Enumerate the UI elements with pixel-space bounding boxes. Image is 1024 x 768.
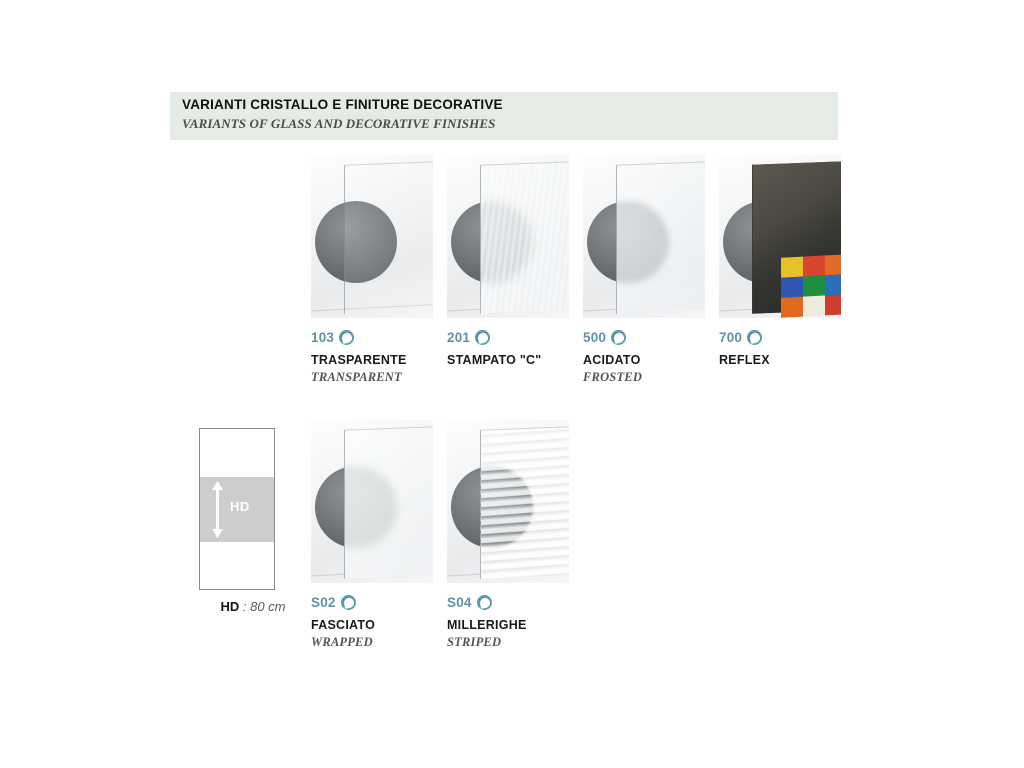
- hd-band-label: HD: [230, 499, 250, 514]
- color-swatch: [803, 295, 825, 316]
- sample-caption: 500 ACIDATO FROSTED: [583, 329, 705, 385]
- sample-card-500[interactable]: 500 ACIDATO FROSTED: [583, 155, 705, 385]
- sample-code: 201: [447, 330, 470, 345]
- sample-code: S02: [311, 595, 336, 610]
- hd-dimension-diagram: HD: [199, 428, 275, 590]
- sample-card-700[interactable]: 700 REFLEX: [719, 155, 841, 370]
- sample-card-S04[interactable]: S04 MILLERIGHE STRIPED: [447, 420, 569, 650]
- sample-photo-acidato: [583, 155, 705, 318]
- water-drop-icon: [475, 330, 490, 345]
- sample-code-row: S02: [311, 594, 433, 611]
- sample-name-en: TRANSPARENT: [311, 370, 433, 385]
- sample-code: S04: [447, 595, 472, 610]
- sample-name-it: STAMPATO "C": [447, 353, 569, 367]
- water-drop-icon: [477, 595, 492, 610]
- glass-pane-millerighe: [480, 426, 569, 579]
- sample-code-row: 201: [447, 329, 569, 346]
- sample-card-201[interactable]: 201 STAMPATO "C": [447, 155, 569, 370]
- sample-card-S02[interactable]: S02 FASCIATO WRAPPED: [311, 420, 433, 650]
- sample-code-row: S04: [447, 594, 569, 611]
- sample-name-en: FROSTED: [583, 370, 705, 385]
- color-swatch: [803, 275, 825, 296]
- sample-name-it: ACIDATO: [583, 353, 705, 367]
- water-drop-icon: [747, 330, 762, 345]
- sample-photo-stampato-c: [447, 155, 569, 318]
- sample-caption: S04 MILLERIGHE STRIPED: [447, 594, 569, 650]
- sample-code: 500: [583, 330, 606, 345]
- sample-code-row: 500: [583, 329, 705, 346]
- water-drop-icon: [611, 330, 626, 345]
- sample-name-it: FASCIATO: [311, 618, 433, 632]
- glass-pane-transparent: [344, 161, 433, 314]
- hd-caption-separator: :: [239, 599, 250, 614]
- color-swatch: [781, 277, 803, 298]
- color-checker-grid: [781, 254, 841, 317]
- sample-photo-trasparente: [311, 155, 433, 318]
- hd-caption: HD : 80 cm: [193, 599, 313, 614]
- sample-name-it: REFLEX: [719, 353, 841, 367]
- color-swatch: [803, 255, 825, 276]
- color-swatch: [825, 254, 841, 275]
- sample-card-103[interactable]: 103 TRASPARENTE TRANSPARENT: [311, 155, 433, 385]
- color-swatch: [825, 294, 841, 315]
- sample-caption: S02 FASCIATO WRAPPED: [311, 594, 433, 650]
- hd-double-arrow-icon: [211, 481, 224, 538]
- glass-pane-fasciato: [344, 426, 433, 579]
- sample-name-it: TRASPARENTE: [311, 353, 433, 367]
- glass-pane-stampato: [480, 161, 569, 314]
- water-drop-icon: [341, 595, 356, 610]
- sample-photo-millerighe: [447, 420, 569, 583]
- sample-caption: 700 REFLEX: [719, 329, 841, 367]
- sample-name-en: WRAPPED: [311, 635, 433, 650]
- color-swatch: [825, 274, 841, 295]
- sample-caption: 103 TRASPARENTE TRANSPARENT: [311, 329, 433, 385]
- page-title: VARIANTI CRISTALLO E FINITURE DECORATIVE: [182, 97, 503, 112]
- page-subtitle: VARIANTS OF GLASS AND DECORATIVE FINISHE…: [182, 116, 495, 132]
- sample-name-en: STRIPED: [447, 635, 569, 650]
- hd-caption-key: HD: [220, 599, 239, 614]
- color-swatch: [781, 257, 803, 278]
- hd-caption-value: 80 cm: [250, 599, 285, 614]
- sample-code: 700: [719, 330, 742, 345]
- water-drop-icon: [339, 330, 354, 345]
- sample-photo-fasciato: [311, 420, 433, 583]
- sample-code: 103: [311, 330, 334, 345]
- glass-pane-acidato: [616, 161, 705, 314]
- color-swatch: [781, 297, 803, 318]
- sample-photo-reflex: [719, 155, 841, 318]
- section-header-band: VARIANTI CRISTALLO E FINITURE DECORATIVE…: [170, 92, 838, 140]
- sample-code-row: 700: [719, 329, 841, 346]
- sample-code-row: 103: [311, 329, 433, 346]
- sample-caption: 201 STAMPATO "C": [447, 329, 569, 367]
- sample-name-it: MILLERIGHE: [447, 618, 569, 632]
